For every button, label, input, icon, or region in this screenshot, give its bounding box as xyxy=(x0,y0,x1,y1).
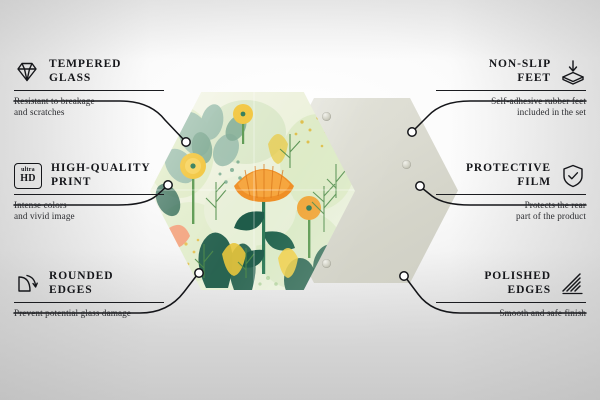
feature-title-line2: FEET xyxy=(489,72,551,86)
feature-description: Prevent potential glass damage xyxy=(14,308,164,319)
feature-divider xyxy=(14,90,164,91)
rubber-foot xyxy=(322,112,331,121)
feature-high-quality-print: ultra HD HIGH-QUALITY PRINT Intense colo… xyxy=(14,162,164,222)
feature-divider xyxy=(14,302,164,303)
feature-title-line2: GLASS xyxy=(49,72,121,86)
feature-divider xyxy=(436,302,586,303)
feature-desc-line1: Intense colors xyxy=(14,200,164,211)
feature-desc-line2: and vivid image xyxy=(14,211,164,222)
feature-header: NON-SLIP FEET xyxy=(436,58,586,85)
feature-title-line2: EDGES xyxy=(484,284,551,298)
feature-title: PROTECTIVE FILM xyxy=(466,162,551,189)
feature-desc-line1: Smooth and safe finish xyxy=(436,308,586,319)
feature-title: TEMPERED GLASS xyxy=(49,58,121,85)
feature-title-line1: ROUNDED xyxy=(49,270,113,284)
feature-desc-line1: Resistant to breakage xyxy=(14,96,164,107)
feature-title-line2: EDGES xyxy=(49,284,113,298)
hatch-lines-icon xyxy=(560,271,586,297)
feature-divider xyxy=(436,194,586,195)
feature-desc-line1: Protects the rear xyxy=(436,200,586,211)
feature-header: TEMPERED GLASS xyxy=(14,58,164,85)
feature-header: POLISHED EDGES xyxy=(436,270,586,297)
shield-check-icon xyxy=(560,163,586,189)
rubber-foot xyxy=(402,160,411,169)
feature-desc-line2: included in the set xyxy=(436,107,586,118)
feature-header: ROUNDED EDGES xyxy=(14,270,164,297)
rounded-corner-icon xyxy=(14,271,40,297)
feature-title-line1: NON-SLIP xyxy=(489,58,551,72)
feature-title-line1: POLISHED xyxy=(484,270,551,284)
feature-divider xyxy=(436,90,586,91)
feature-header: ultra HD HIGH-QUALITY PRINT xyxy=(14,162,164,189)
infographic-canvas: TEMPERED GLASS Resistant to breakage and… xyxy=(0,0,600,400)
feature-description: Smooth and safe finish xyxy=(436,308,586,319)
feature-description: Resistant to breakage and scratches xyxy=(14,96,164,118)
rubber-foot xyxy=(322,259,331,268)
product-image xyxy=(150,92,460,302)
feature-title-line2: FILM xyxy=(466,176,551,190)
feature-description: Protects the rear part of the product xyxy=(436,200,586,222)
feature-title-line1: TEMPERED xyxy=(49,58,121,72)
feature-title-line2: PRINT xyxy=(51,176,151,190)
feature-rounded-edges: ROUNDED EDGES Prevent potential glass da… xyxy=(14,270,164,319)
press-pad-icon xyxy=(560,59,586,85)
feature-header: PROTECTIVE FILM xyxy=(436,162,586,189)
feature-description: Self-adhesive rubber feet included in th… xyxy=(436,96,586,118)
feature-title-line1: PROTECTIVE xyxy=(466,162,551,176)
feature-title: HIGH-QUALITY PRINT xyxy=(51,162,151,189)
ultra-hd-badge-icon: ultra HD xyxy=(14,163,42,189)
feature-desc-line2: and scratches xyxy=(14,107,164,118)
diamond-icon xyxy=(14,59,40,85)
feature-desc-line2: part of the product xyxy=(436,211,586,222)
background-top-shade xyxy=(0,0,600,60)
feature-description: Intense colors and vivid image xyxy=(14,200,164,222)
feature-divider xyxy=(14,194,164,195)
feature-protective-film: PROTECTIVE FILM Protects the rear part o… xyxy=(436,162,586,222)
feature-title: ROUNDED EDGES xyxy=(49,270,113,297)
feature-desc-line1: Self-adhesive rubber feet xyxy=(436,96,586,107)
feature-tempered-glass: TEMPERED GLASS Resistant to breakage and… xyxy=(14,58,164,118)
feature-title-line1: HIGH-QUALITY xyxy=(51,162,151,176)
feature-non-slip-feet: NON-SLIP FEET Self-adhesive rubber feet … xyxy=(436,58,586,118)
feature-title: NON-SLIP FEET xyxy=(489,58,551,85)
badge-bottom-text: HD xyxy=(20,174,36,184)
feature-polished-edges: POLISHED EDGES Smooth and safe finish xyxy=(436,270,586,319)
feature-title: POLISHED EDGES xyxy=(484,270,551,297)
feature-desc-line1: Prevent potential glass damage xyxy=(14,308,164,319)
